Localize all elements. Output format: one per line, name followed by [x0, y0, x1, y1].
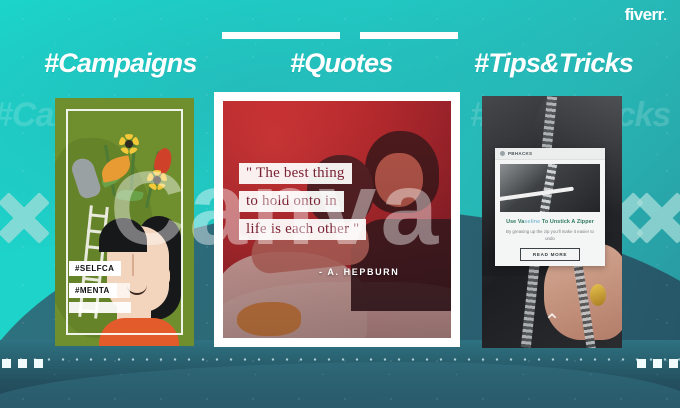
card-inner-border: [66, 109, 183, 335]
card-tips-tricks[interactable]: PBHACKS Use Vaseline To Unstick A Zipper…: [482, 96, 622, 348]
overlay-title-post: To Unstick A Zipper: [540, 219, 594, 225]
thumbnail-applicator: [500, 187, 574, 202]
title-underline-bars: [222, 32, 458, 39]
heading-quotes: #Quotes: [290, 48, 392, 79]
dotted-divider: [0, 358, 680, 361]
quote-line: to hold onto in: [239, 191, 344, 212]
overlay-thumbnail: [500, 164, 600, 212]
photo-ring: [590, 284, 606, 306]
tips-photo: PBHACKS Use Vaseline To Unstick A Zipper…: [482, 96, 622, 348]
card-quotes[interactable]: " The best thing to hold onto in life is…: [214, 92, 460, 347]
quote-line: life is each other ": [239, 219, 366, 240]
fiverr-logo: fiverr.: [625, 5, 666, 25]
quote-text-block: " The best thing to hold onto in life is…: [239, 163, 443, 247]
x-decor-icon: [634, 190, 680, 246]
square-accents-left: [2, 359, 43, 368]
heading-tips-tricks: #Tips&Tricks: [474, 48, 633, 79]
overlay-username: PBHACKS: [508, 151, 532, 156]
overlay-body: By greasing up the zip you'll make it ea…: [504, 229, 596, 242]
x-decor-icon: [0, 190, 52, 246]
avatar: [500, 151, 505, 156]
tip-card-overlay[interactable]: PBHACKS Use Vaseline To Unstick A Zipper…: [495, 148, 605, 266]
chevron-up-icon[interactable]: ⌃: [544, 312, 561, 332]
quote-attribution: - A. HEPBURN: [319, 267, 399, 277]
section-headings: #Campaigns #Quotes #Tips&Tricks: [0, 48, 680, 90]
quote-photo: " The best thing to hold onto in life is…: [223, 101, 451, 338]
heading-campaigns: #Campaigns: [44, 48, 197, 79]
overlay-title-highlight: seline: [524, 219, 540, 225]
quote-line: " The best thing: [239, 163, 352, 184]
card-campaigns[interactable]: #SELFCA #MENTA: [55, 98, 194, 346]
overlay-title-pre: Use Va: [506, 219, 524, 225]
background-footer-curve: [0, 362, 680, 408]
bar-right: [360, 32, 458, 39]
bar-left: [222, 32, 340, 39]
read-more-button[interactable]: READ MORE: [520, 248, 580, 261]
background-footer-band: [0, 340, 680, 408]
fiverr-logo-dot: .: [664, 11, 666, 23]
overlay-title: Use Vaseline To Unstick A Zipper: [499, 219, 601, 225]
overlay-header: PBHACKS: [495, 148, 605, 160]
video-frame: fiverr. #Campaigns #Quotes #Tips&Tricks …: [0, 0, 680, 408]
fiverr-logo-text: fiverr: [625, 5, 664, 24]
square-accents-right: [637, 359, 678, 368]
